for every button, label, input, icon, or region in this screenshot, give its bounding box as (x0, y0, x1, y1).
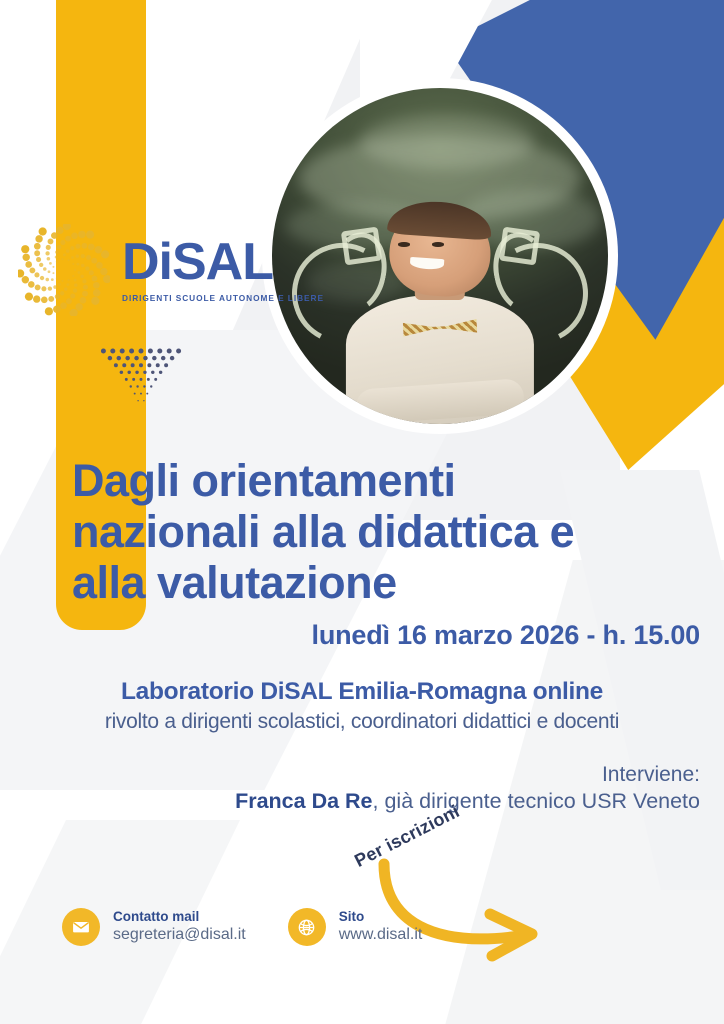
contact-site-value: www.disal.it (339, 925, 423, 945)
speaker-role: , già dirigente tecnico USR Veneto (373, 789, 700, 813)
boy-eye-right (432, 242, 444, 246)
event-lab-title: Laboratorio DiSAL Emilia-Romagna online (0, 678, 724, 706)
disal-logo: DiSAL DIRIGENTI SCUOLE AUTONOME E LIBERE (18, 224, 276, 320)
event-audience: rivolto a dirigenti scolastici, coordina… (0, 710, 724, 734)
contact-mail-text: Contatto mail segreteria@disal.it (113, 909, 246, 946)
contact-mail-title: Contatto mail (113, 909, 246, 926)
title-line-2: nazionali alla didattica e (72, 507, 712, 558)
chalk-smudge (359, 115, 534, 169)
spiral-dots-icon (18, 224, 110, 316)
disal-logo-text: DiSAL DIRIGENTI SCUOLE AUTONOME E LIBERE (122, 236, 324, 303)
globe-icon (288, 908, 326, 946)
disal-tagline: DIRIGENTI SCUOLE AUTONOME E LIBERE (122, 293, 324, 303)
event-date: lunedì 16 marzo 2026 - h. 15.00 (0, 620, 700, 651)
envelope-icon (62, 908, 100, 946)
speaker-line: Franca Da Re, già dirigente tecnico USR … (0, 789, 700, 814)
boy-eye-left (398, 242, 410, 246)
title-line-3: alla valutazione (72, 558, 712, 609)
contact-site-text: Sito www.disal.it (339, 909, 423, 946)
funnel-dots-icon (96, 344, 186, 410)
contact-site[interactable]: Sito www.disal.it (288, 908, 423, 946)
contact-site-title: Sito (339, 909, 423, 926)
contact-mail-value: segreteria@disal.it (113, 925, 246, 945)
page-title: Dagli orientamenti nazionali alla didatt… (72, 456, 712, 609)
poster: DiSAL DIRIGENTI SCUOLE AUTONOME E LIBERE… (0, 0, 724, 1024)
contact-mail[interactable]: Contatto mail segreteria@disal.it (62, 908, 246, 946)
speaker-name: Franca Da Re (235, 789, 372, 813)
disal-wordmark: DiSAL (122, 236, 324, 288)
contacts: Contatto mail segreteria@disal.it Sito (62, 908, 422, 946)
title-line-1: Dagli orientamenti (72, 456, 712, 507)
speaker-label: Interviene: (0, 763, 700, 787)
